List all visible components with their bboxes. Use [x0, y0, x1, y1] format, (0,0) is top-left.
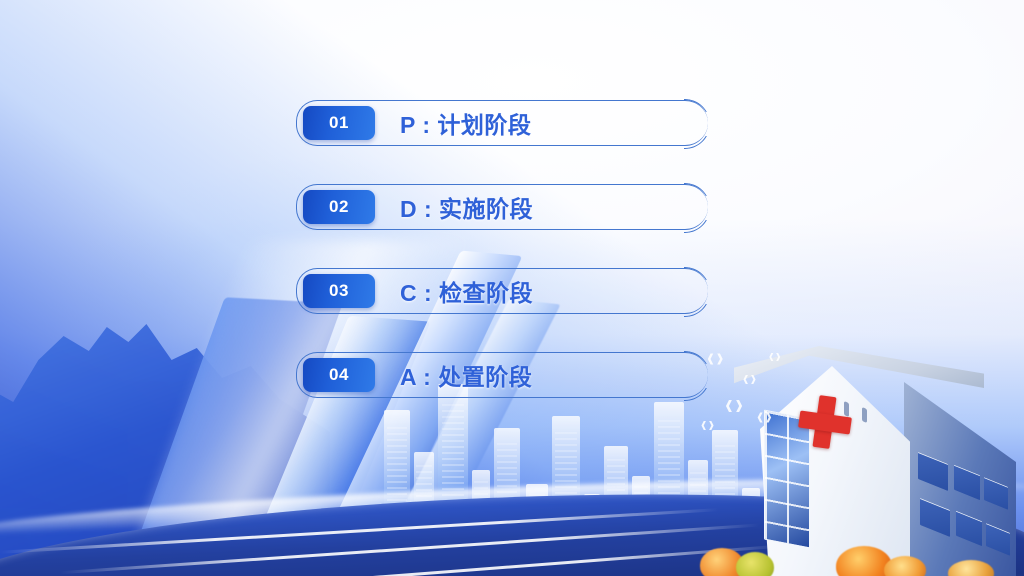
stage-number-badge: 03	[303, 274, 375, 308]
bird-icon: ❰❱	[742, 374, 757, 385]
list-item[interactable]: 01 P : 计划阶段	[296, 100, 708, 146]
list-item[interactable]: 03 C : 检查阶段	[296, 268, 708, 314]
bird-icon: ❰❱	[706, 352, 724, 365]
stage-label: P : 计划阶段	[400, 100, 531, 146]
hospital-building	[716, 336, 1016, 576]
stage-number-badge: 01	[303, 106, 375, 140]
bird-icon: ❰❱	[756, 412, 773, 423]
list-item[interactable]: 04 A : 处置阶段	[296, 352, 708, 398]
slide-canvas: ❰❱ ❰❱ ❰❱ ❰❱ ❰❱ ❰❱ 01 P : 计划阶段 02 D : 实施阶…	[0, 0, 1024, 576]
hospital-window-grid	[764, 410, 810, 549]
stage-number-badge: 02	[303, 190, 375, 224]
pdca-stage-list: 01 P : 计划阶段 02 D : 实施阶段 03 C : 检查阶段 04 A…	[296, 100, 708, 398]
bird-icon: ❰❱	[700, 420, 715, 431]
tree-4	[884, 556, 926, 576]
bird-icon: ❰❱	[768, 352, 781, 361]
list-item[interactable]: 02 D : 实施阶段	[296, 184, 708, 230]
bird-icon: ❰❱	[724, 398, 744, 412]
tree-2	[736, 552, 774, 576]
stage-label: C : 检查阶段	[400, 268, 533, 314]
stage-label: D : 实施阶段	[400, 184, 533, 230]
stage-number-badge: 04	[303, 358, 375, 392]
stage-label: A : 处置阶段	[400, 352, 532, 398]
hospital-side-wall	[904, 382, 1016, 576]
